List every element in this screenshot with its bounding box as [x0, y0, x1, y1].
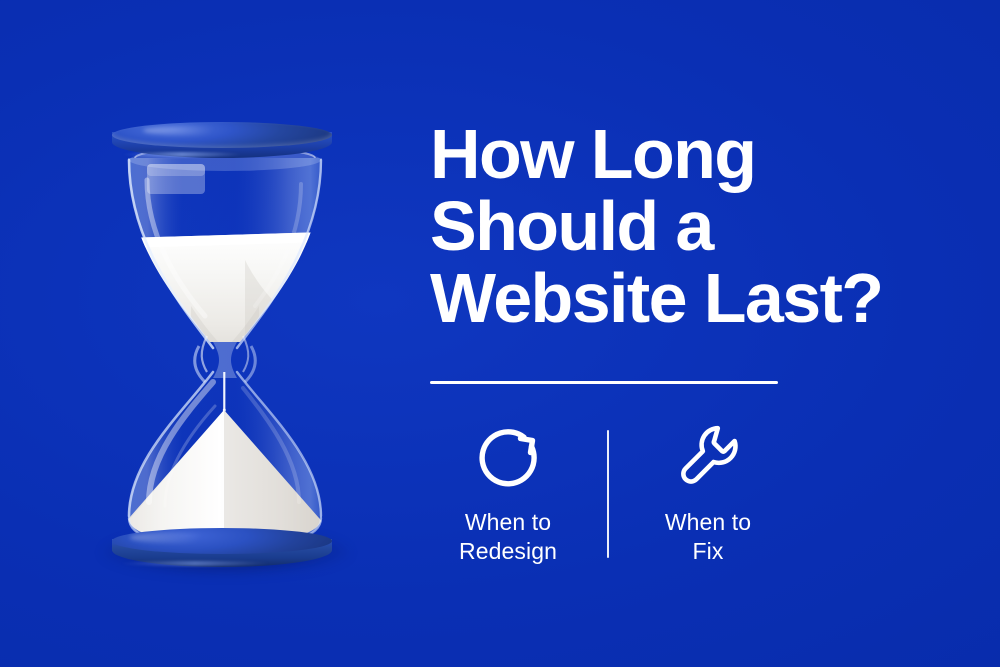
headline-block: How Long Should a Website Last? — [430, 118, 950, 334]
headline-line-1: How Long — [430, 118, 950, 190]
headline-line-3: Website Last? — [430, 262, 950, 334]
feature-list: When to Redesign When to Fix — [418, 418, 798, 566]
hourglass-pedestal-base — [112, 528, 332, 574]
wrench-icon — [671, 418, 745, 492]
base-top-face — [112, 528, 332, 554]
headline-line-2: Should a — [430, 190, 950, 262]
feature-when-to-fix[interactable]: When to Fix — [618, 418, 798, 566]
hourglass-glass-and-sand — [95, 110, 355, 590]
horizontal-divider — [430, 381, 778, 384]
refresh-circular-arrow-icon — [471, 418, 545, 492]
feature-label: When to Redesign — [459, 508, 557, 566]
feature-vertical-divider — [598, 418, 618, 566]
page-title: How Long Should a Website Last? — [430, 118, 950, 334]
cap-top-face — [112, 122, 332, 148]
feature-when-to-redesign[interactable]: When to Redesign — [418, 418, 598, 566]
hero-graphic-canvas: How Long Should a Website Last? When to … — [0, 0, 1000, 667]
base-edge-highlight — [120, 561, 270, 566]
upper-sand — [123, 232, 327, 360]
hourglass-illustration — [95, 110, 355, 590]
feature-label: When to Fix — [665, 508, 751, 566]
cap-rim-highlight — [122, 152, 242, 157]
hourglass-top-cap — [112, 122, 332, 166]
